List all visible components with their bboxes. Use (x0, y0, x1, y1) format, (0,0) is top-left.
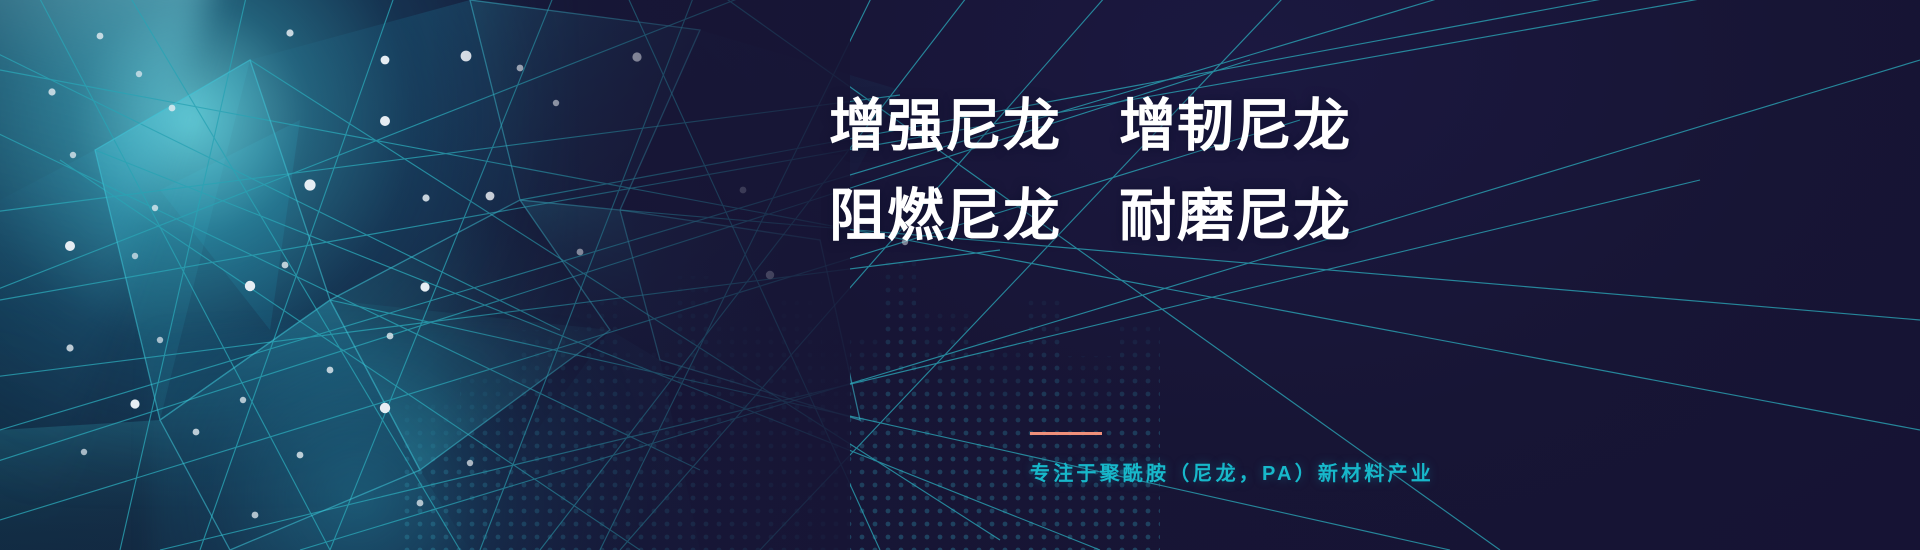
tagline-divider (1030, 432, 1102, 435)
tagline-text: 专注于聚酰胺（尼龙，PA）新材料产业 (1030, 457, 1434, 486)
headline-line-1: 增强尼龙 增韧尼龙 (690, 98, 1490, 155)
hero-banner: 增强尼龙 增韧尼龙 阻燃尼龙 耐磨尼龙 专注于聚酰胺（尼龙，PA）新材料产业 (0, 0, 1920, 550)
headline-line-2: 阻燃尼龙 耐磨尼龙 (690, 188, 1490, 245)
banner-content: 增强尼龙 增韧尼龙 阻燃尼龙 耐磨尼龙 专注于聚酰胺（尼龙，PA）新材料产业 (690, 0, 1490, 550)
tagline-block: 专注于聚酰胺（尼龙，PA）新材料产业 (1030, 432, 1434, 486)
